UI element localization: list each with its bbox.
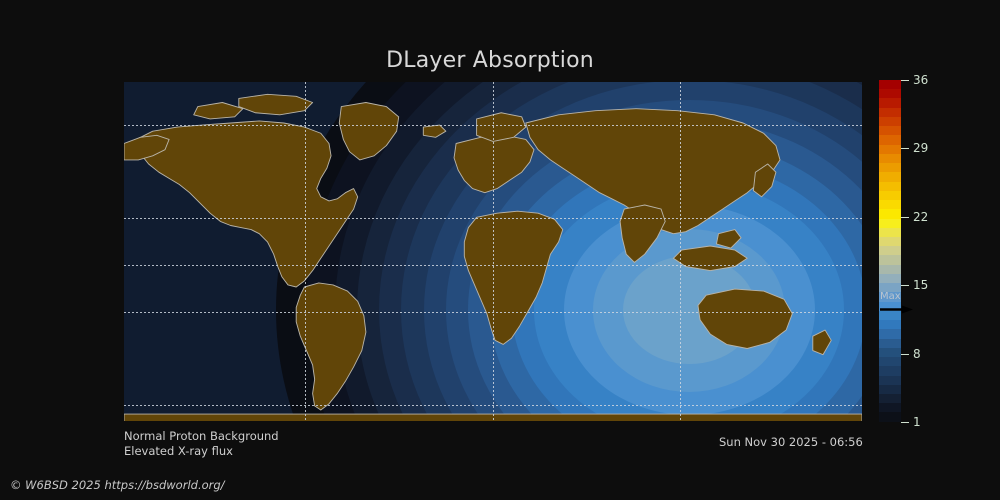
colorbar-tick-29 bbox=[901, 148, 909, 149]
colorbar-axis-label: Affected Frequency (MHz) bbox=[921, 80, 1000, 422]
colorbar-segment-19 bbox=[879, 255, 901, 264]
colorbar-segment-27 bbox=[879, 329, 901, 338]
colorbar-segment-21 bbox=[879, 274, 901, 283]
map-clip bbox=[124, 82, 862, 421]
graticule-layer bbox=[124, 82, 862, 421]
colorbar-segment-18 bbox=[879, 246, 901, 255]
colorbar-segment-17 bbox=[879, 237, 901, 246]
colorbar-max-marker: Max bbox=[879, 291, 939, 319]
colorbar-segment-9 bbox=[879, 163, 901, 172]
colorbar-segment-2 bbox=[879, 98, 901, 107]
colorbar-segment-28 bbox=[879, 339, 901, 348]
colorbar-segment-15 bbox=[879, 219, 901, 228]
gridline-lon-west bbox=[305, 82, 306, 421]
xray-status-text: Elevated X-ray flux bbox=[124, 444, 233, 458]
gridline-lon-east bbox=[680, 82, 681, 421]
colorbar-tick-1 bbox=[901, 422, 909, 423]
colorbar-segment-26 bbox=[879, 320, 901, 329]
colorbar-segment-30 bbox=[879, 357, 901, 366]
colorbar-segment-14 bbox=[879, 209, 901, 218]
colorbar-segment-1 bbox=[879, 89, 901, 98]
colorbar-tick-label-8: 8 bbox=[913, 347, 921, 361]
colorbar-tick-15 bbox=[901, 285, 909, 286]
colorbar-tick-22 bbox=[901, 217, 909, 218]
colorbar-segment-29 bbox=[879, 348, 901, 357]
colorbar[interactable] bbox=[879, 80, 901, 422]
colorbar-segment-32 bbox=[879, 376, 901, 385]
colorbar-segment-5 bbox=[879, 126, 901, 135]
gridline-lon-prime bbox=[493, 82, 494, 421]
colorbar-segment-8 bbox=[879, 154, 901, 163]
page-title: DLayer Absorption bbox=[0, 48, 990, 73]
colorbar-tick-36 bbox=[901, 80, 909, 81]
max-arrow-icon bbox=[880, 305, 914, 314]
colorbar-segment-20 bbox=[879, 265, 901, 274]
proton-status-text: Normal Proton Background bbox=[124, 429, 279, 443]
colorbar-segment-36 bbox=[879, 412, 901, 421]
dlayer-absorption-figure: DLayer Absorption bbox=[0, 0, 1000, 500]
colorbar-segment-16 bbox=[879, 228, 901, 237]
copyright-text: © W6BSD 2025 https://bsdworld.org/ bbox=[10, 478, 225, 492]
colorbar-segment-35 bbox=[879, 403, 901, 412]
colorbar-segment-0 bbox=[879, 80, 901, 89]
colorbar-segment-12 bbox=[879, 191, 901, 200]
colorbar-segment-33 bbox=[879, 385, 901, 394]
world-map[interactable] bbox=[124, 82, 862, 421]
colorbar-segment-13 bbox=[879, 200, 901, 209]
colorbar-segment-6 bbox=[879, 135, 901, 144]
colorbar-tick-8 bbox=[901, 354, 909, 355]
colorbar-segment-10 bbox=[879, 172, 901, 181]
colorbar-max-label: Max bbox=[880, 291, 901, 302]
colorbar-segment-11 bbox=[879, 182, 901, 191]
colorbar-tick-label-1: 1 bbox=[913, 415, 921, 429]
colorbar-segment-34 bbox=[879, 394, 901, 403]
colorbar-segment-3 bbox=[879, 108, 901, 117]
colorbar-segment-7 bbox=[879, 145, 901, 154]
timestamp-text: Sun Nov 30 2025 - 06:56 bbox=[719, 435, 863, 449]
colorbar-segment-31 bbox=[879, 366, 901, 375]
colorbar-segment-4 bbox=[879, 117, 901, 126]
